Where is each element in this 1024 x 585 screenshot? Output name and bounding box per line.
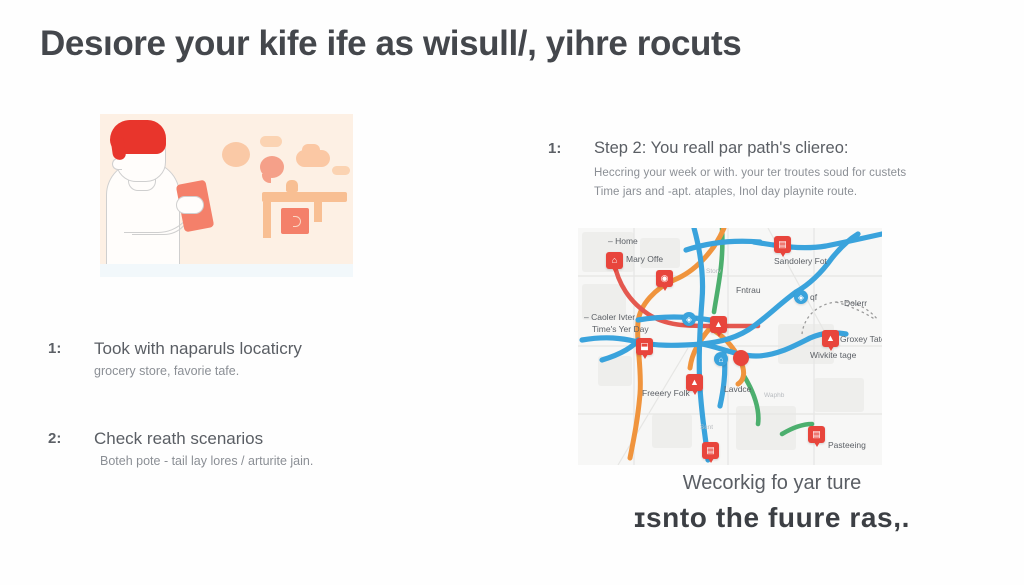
map-marker-poi[interactable]: ◉ xyxy=(656,270,673,287)
map-label: Pasteeing xyxy=(828,440,866,450)
map-circle-marker[interactable]: ◈ xyxy=(794,290,808,304)
map-label: Fntrau xyxy=(736,285,761,295)
left-column: 1: Took with naparuls locaticry grocery … xyxy=(40,108,510,508)
store-icon: ▤ xyxy=(774,236,791,253)
pin-icon: ▲ xyxy=(822,330,839,347)
map-label-faint: Storv xyxy=(706,268,721,275)
list-item-subtitle-2: Time jars and -apt. ataples, Inol day pl… xyxy=(594,186,857,198)
map-label: Time's Yer Day xyxy=(592,324,649,334)
list-item-subtitle: Boteh pote - tail lay lores / arturite j… xyxy=(100,454,313,468)
route-map[interactable]: ⌂ ◉ ▤ ▲ ⬓ ▲ ▲ ▤ ▤ ◈ ◈ ⌂ – Home Mary Offe… xyxy=(578,228,882,465)
list-item-title: Check reath scenarios xyxy=(94,429,263,449)
map-circle-marker[interactable]: ⌂ xyxy=(714,352,728,366)
map-marker-store[interactable]: ▤ xyxy=(702,442,719,459)
desk-leg xyxy=(263,202,271,238)
person-holding-tablet-illustration xyxy=(100,114,353,264)
page-title: Desıore your kife ife as wisull/, yihre … xyxy=(40,24,984,64)
store-icon: ▤ xyxy=(808,426,825,443)
map-marker-home[interactable]: ⌂ xyxy=(606,252,623,269)
speech-bubble-icon xyxy=(260,156,284,178)
pin-icon: ▲ xyxy=(710,316,727,333)
caption-line-2: ɪsnto the fuure ras,. xyxy=(562,502,982,534)
desk-icon xyxy=(262,192,347,202)
map-label: Dolerr xyxy=(844,298,867,308)
map-marker-grocery[interactable]: ▲ xyxy=(822,330,839,347)
person-hand xyxy=(176,196,204,214)
map-circle-marker-alert[interactable] xyxy=(733,350,749,366)
store-icon: ▤ xyxy=(702,442,719,459)
slide-canvas: Desıore your kife ife as wisull/, yihre … xyxy=(0,0,1024,585)
monitor-icon xyxy=(281,208,309,234)
map-label: Groxey Tate xyxy=(840,334,882,344)
map-label-faint: Scnt xyxy=(700,424,713,431)
map-marker-transit[interactable]: ⬓ xyxy=(636,338,653,355)
map-marker-place[interactable]: ▲ xyxy=(710,316,727,333)
speech-bubble-icon xyxy=(222,142,250,167)
map-label: Freeery Folk xyxy=(642,388,690,398)
map-circle-marker[interactable]: ◈ xyxy=(682,312,696,326)
home-icon: ⌂ xyxy=(606,252,623,269)
map-label: Wivkite tage xyxy=(810,350,856,360)
caption-line-1: Wecorkig fo yar ture xyxy=(562,472,982,495)
person-hair xyxy=(110,120,166,154)
map-label-faint: Waphb xyxy=(764,392,784,399)
map-label: qf xyxy=(810,292,817,302)
list-item-number: 2: xyxy=(48,430,86,447)
list-item-subtitle: Heccring your week or with. your ter tro… xyxy=(594,167,906,179)
map-label: – Home xyxy=(608,236,638,246)
list-item-title: Took with naparuls locaticry xyxy=(94,339,302,359)
desk-leg xyxy=(314,202,322,222)
transit-icon: ⬓ xyxy=(636,338,653,355)
map-marker-store[interactable]: ▤ xyxy=(774,236,791,253)
map-marker-parking[interactable]: ▤ xyxy=(808,426,825,443)
list-item-title: Step 2: You reall par path's cliereo: xyxy=(594,139,849,158)
list-item-number: 1: xyxy=(48,340,86,357)
list-item-number: 1: xyxy=(548,140,586,157)
list-item-subtitle: grocery store, favorie tafe. xyxy=(94,364,239,378)
map-label: Lavdce xyxy=(724,384,751,394)
speech-bubble-icon xyxy=(332,166,350,175)
map-label: Sandolery Fot xyxy=(774,256,827,266)
map-label: Mary Offe xyxy=(626,254,663,264)
desk-lamp-icon xyxy=(286,180,298,192)
cloud-bubble-icon xyxy=(296,150,330,167)
illustration-underline xyxy=(100,264,353,277)
speech-bubble-icon xyxy=(260,136,282,147)
map-label: – Caoler Ivter xyxy=(584,312,635,322)
clock-icon: ◉ xyxy=(656,270,673,287)
